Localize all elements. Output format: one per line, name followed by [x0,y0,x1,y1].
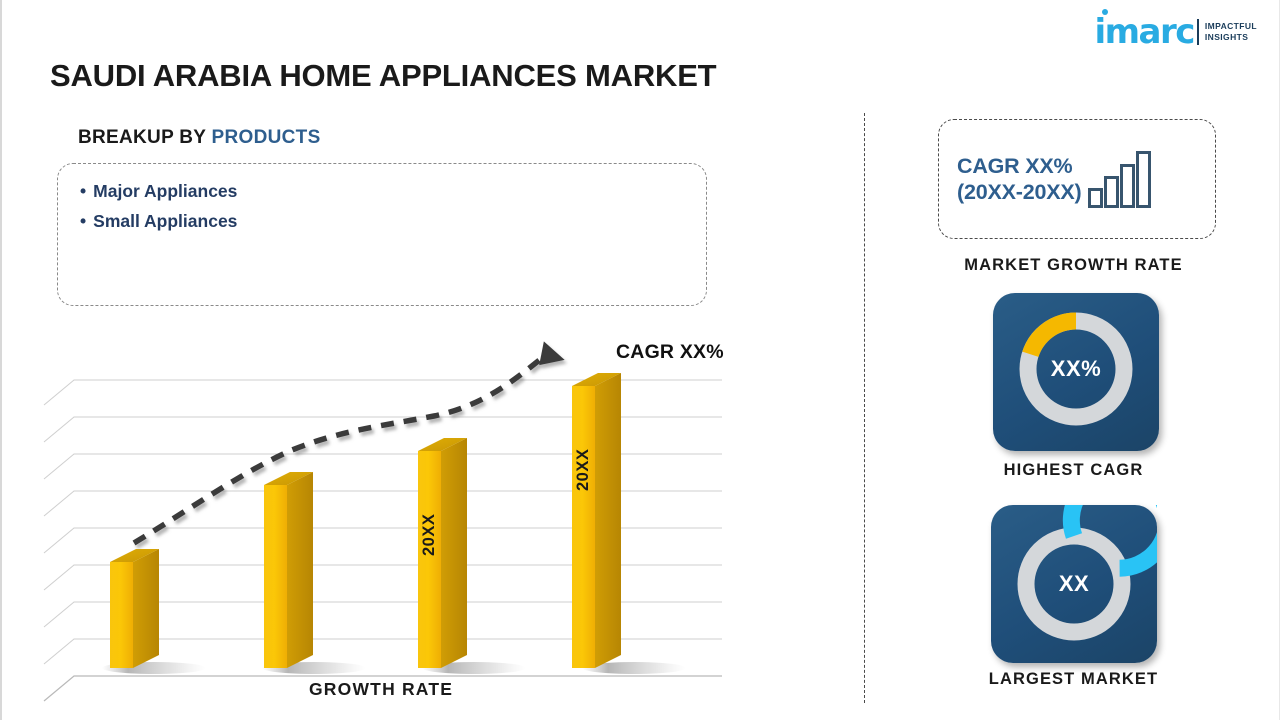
largest-market-value: XX [991,571,1157,597]
trend-arrowhead [539,341,566,367]
breakup-heading: BREAKUP BY PRODUCTS [78,127,321,149]
market-growth-rate-box: CAGR XX% (20XX-20XX) [938,119,1216,239]
logo-tagline: IMPACTFUL INSIGHTS [1205,21,1257,44]
caption-largest-market: LARGEST MARKET [865,670,1280,689]
cagr-text: CAGR XX% (20XX-20XX) [957,153,1081,205]
product-breakup-box: Major Appliances Small Appliances [57,163,707,306]
page-title: SAUDI ARABIA HOME APPLIANCES MARKET [50,58,716,94]
highest-cagr-value: XX% [993,356,1159,382]
logo-wordmark: imarc [1094,15,1193,49]
cagr-line-2: (20XX-20XX) [957,179,1081,205]
bar-chart-icon [1087,149,1151,209]
breakup-heading-highlight: PRODUCTS [212,127,321,148]
imarc-logo: imarc IMPACTFUL INSIGHTS [1094,12,1257,52]
logo-tagline-line1: IMPACTFUL [1205,21,1257,32]
caption-market-growth-rate: MARKET GROWTH RATE [865,256,1280,275]
largest-market-tile: XX [991,505,1157,663]
bar-3: 20XX [418,438,467,668]
highest-cagr-tile: XX% [993,293,1159,451]
product-list: Major Appliances Small Appliances [58,164,706,236]
trend-line [134,341,566,543]
logo-word-text: imarc [1094,12,1193,52]
list-item: Small Appliances [80,206,706,236]
chart-x-axis-label: GROWTH RATE [309,679,453,700]
logo-tagline-line2: INSIGHTS [1205,32,1257,43]
bar-1 [110,549,159,668]
list-item: Major Appliances [80,176,706,206]
bar-3-label: 20XX [420,514,438,556]
breakup-heading-prefix: BREAKUP BY [78,127,212,148]
chart-svg: 20XX 20XX [42,330,782,710]
caption-highest-cagr: HIGHEST CAGR [865,461,1280,480]
bar-4-label: 20XX [574,449,592,491]
chart-cagr-annotation: CAGR XX% [616,341,724,364]
slide-canvas: imarc IMPACTFUL INSIGHTS SAUDI ARABIA HO… [0,0,1280,720]
cagr-line-1: CAGR XX% [957,153,1081,179]
panel-divider [864,113,865,703]
logo-divider [1197,19,1199,45]
bar-2 [264,472,313,668]
bar-4: 20XX [572,373,621,668]
growth-rate-bar-chart: 20XX 20XX [42,330,782,710]
